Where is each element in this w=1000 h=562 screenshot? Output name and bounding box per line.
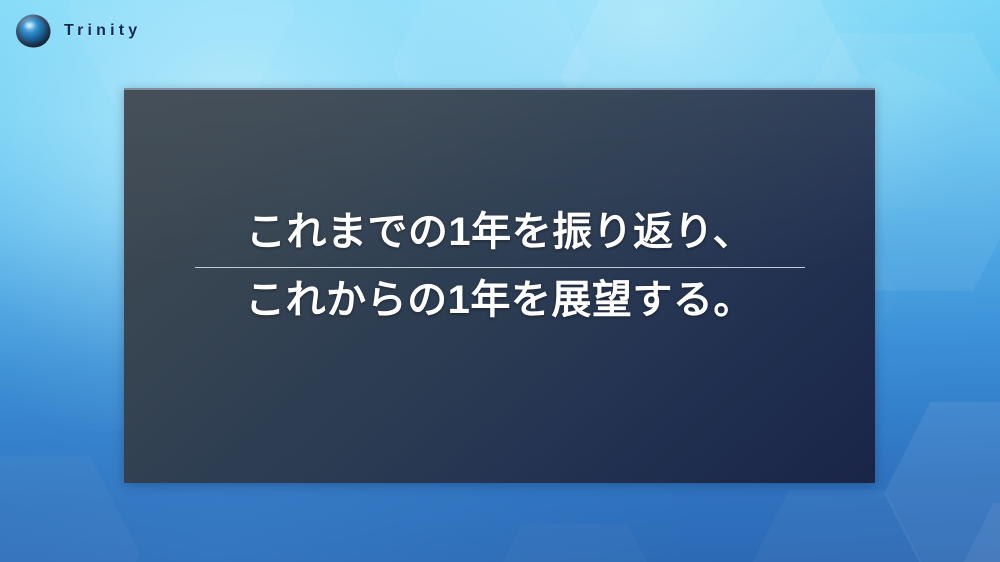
brand-logo: Trinity [14,14,141,48]
brand-wordmark: Trinity [64,23,141,39]
content-panel: これまでの1年を振り返り、 これからの1年を展望する。 [124,88,875,483]
headline-block: これまでの1年を振り返り、 これからの1年を展望する。 [124,206,875,327]
headline-line-1: これまでの1年を振り返り、 [124,206,875,260]
headline-divider [195,267,805,268]
trinity-teardrop-logo-icon [14,13,52,49]
headline-line-2: これからの1年を展望する。 [124,274,875,328]
presentation-slide: Trinity これまでの1年を振り返り、 これからの1年を展望する。 [0,0,1000,562]
